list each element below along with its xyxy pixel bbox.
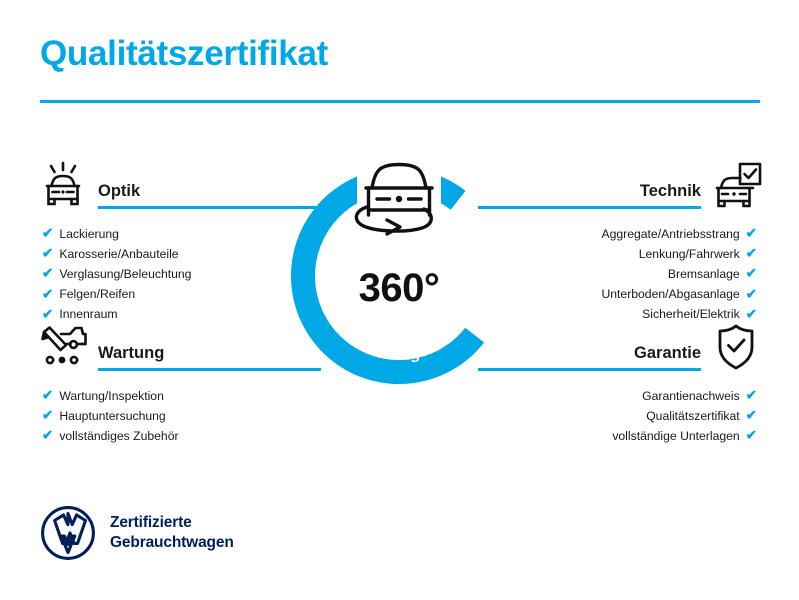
footer-brand-line2: Gebrauchtwagen <box>110 533 234 553</box>
section-optik: Optik ✔Lackierung ✔Karosserie/Anbauteile… <box>36 160 321 324</box>
list-item-label: Felgen/Reifen <box>59 288 135 300</box>
list-item: ✔Bremsanlage <box>668 264 763 284</box>
check-icon: ✔ <box>746 287 757 301</box>
check-icon: ✔ <box>42 409 53 423</box>
list-item-label: Bremsanlage <box>668 268 740 280</box>
check-icon: ✔ <box>746 409 757 423</box>
check-icon: ✔ <box>746 227 757 241</box>
list-item-label: Hauptuntersuchung <box>59 410 165 422</box>
list-item: ✔Qualitätszertifikat <box>646 406 763 426</box>
list-item: ✔Wartung/Inspektion <box>36 386 321 406</box>
section-optik-header: Optik <box>36 160 321 212</box>
list-item: ✔Hauptuntersuchung <box>36 406 321 426</box>
check-icon: ✔ <box>746 267 757 281</box>
section-technik-title: Technik <box>478 182 701 200</box>
section-technik-list: ✔Aggregate/Antriebsstrang ✔Lenkung/Fahrw… <box>478 224 763 324</box>
check-icon: ✔ <box>42 267 53 281</box>
section-technik-underline <box>478 206 701 209</box>
list-item-label: Aggregate/Antriebsstrang <box>601 228 739 240</box>
check-icon: ✔ <box>42 287 53 301</box>
check-icon: ✔ <box>746 307 757 321</box>
list-item-label: vollständiges Zubehör <box>59 430 178 442</box>
list-item-label: Innenraum <box>59 308 117 320</box>
check-icon: ✔ <box>746 389 757 403</box>
list-item: ✔Lenkung/Fahrwerk <box>639 244 763 264</box>
list-item-label: Lenkung/Fahrwerk <box>639 248 740 260</box>
page-title: Qualitätszertifikat <box>40 36 328 71</box>
footer-brand-line1: Zertifizierte <box>110 513 234 533</box>
list-item: ✔vollständiges Zubehör <box>36 426 321 446</box>
list-item: ✔Karosserie/Anbauteile <box>36 244 321 264</box>
list-item-label: Unterboden/Abgasanlage <box>601 288 739 300</box>
list-item-label: Wartung/Inspektion <box>59 390 164 402</box>
section-technik-header: Technik <box>478 160 763 212</box>
section-garantie-underline <box>478 368 701 371</box>
list-item: ✔Verglasung/Beleuchtung <box>36 264 321 284</box>
list-item: ✔Aggregate/Antriebsstrang <box>601 224 763 244</box>
section-optik-list: ✔Lackierung ✔Karosserie/Anbauteile ✔Verg… <box>36 224 321 324</box>
check-icon: ✔ <box>746 247 757 261</box>
section-wartung: Wartung ✔Wartung/Inspektion ✔Hauptunters… <box>36 322 321 446</box>
list-item: ✔Felgen/Reifen <box>36 284 321 304</box>
footer-brand: Zertifizierte Gebrauchtwagen <box>40 505 234 561</box>
section-wartung-list: ✔Wartung/Inspektion ✔Hauptuntersuchung ✔… <box>36 386 321 446</box>
badge-360-check: Gebrauchtwagen-Check 360° <box>288 148 510 386</box>
certificate-page: Qualitätszertifikat <box>0 0 799 600</box>
check-icon: ✔ <box>42 307 53 321</box>
shield-check-icon <box>709 322 763 374</box>
check-icon: ✔ <box>42 247 53 261</box>
list-item-label: Karosserie/Anbauteile <box>59 248 178 260</box>
check-icon: ✔ <box>42 227 53 241</box>
list-item: ✔Lackierung <box>36 224 321 244</box>
list-item: ✔vollständige Unterlagen <box>612 426 763 446</box>
car-front-lights-icon <box>36 160 90 212</box>
list-item: ✔Garantienachweis <box>642 386 763 406</box>
car-service-pen-icon <box>36 322 90 374</box>
section-technik: Technik ✔Aggregate/Antriebsstrang ✔Lenku… <box>478 160 763 324</box>
section-garantie-list: ✔Garantienachweis ✔Qualitätszertifikat ✔… <box>478 386 763 446</box>
section-garantie-title: Garantie <box>478 344 701 362</box>
list-item-label: Verglasung/Beleuchtung <box>59 268 191 280</box>
list-item-label: Garantienachweis <box>642 390 740 402</box>
list-item-label: Qualitätszertifikat <box>646 410 739 422</box>
check-icon: ✔ <box>42 429 53 443</box>
list-item-label: Lackierung <box>59 228 119 240</box>
section-wartung-header: Wartung <box>36 322 321 374</box>
volkswagen-logo-icon <box>40 505 96 561</box>
check-icon: ✔ <box>746 429 757 443</box>
section-garantie-titlewrap: Garantie <box>478 322 701 371</box>
section-garantie: Garantie ✔Garantienachweis ✔Qualitätszer… <box>478 322 763 446</box>
section-garantie-header: Garantie <box>478 322 763 374</box>
check-icon: ✔ <box>42 389 53 403</box>
list-item-label: vollständige Unterlagen <box>612 430 739 442</box>
footer-brand-text: Zertifizierte Gebrauchtwagen <box>110 513 234 553</box>
list-item: ✔Unterboden/Abgasanlage <box>601 284 763 304</box>
section-technik-titlewrap: Technik <box>478 160 701 209</box>
header-divider <box>40 100 760 103</box>
badge-number: 360° <box>288 268 510 308</box>
car-checkbox-icon <box>709 160 763 212</box>
list-item-label: Sicherheit/Elektrik <box>642 308 740 320</box>
